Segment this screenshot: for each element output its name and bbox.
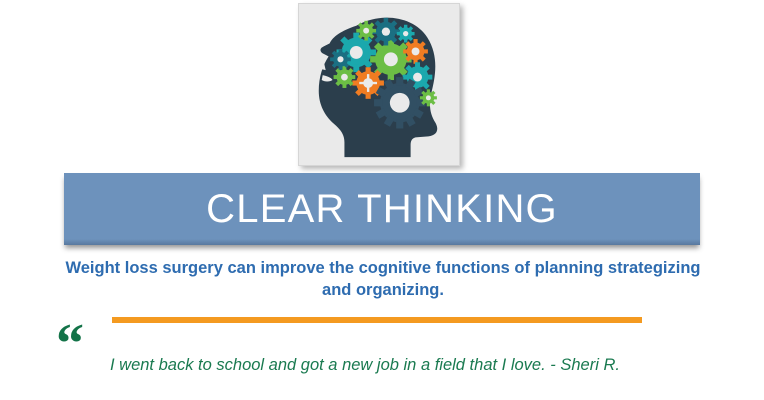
clear-thinking-banner: CLEAR THINKING <box>64 173 700 245</box>
page-title: CLEAR THINKING <box>206 189 558 229</box>
gear-darkteal-left <box>330 49 351 70</box>
gear-teal-tiny <box>397 25 415 43</box>
testimonial-quote: I went back to school and got a new job … <box>110 355 720 376</box>
illustration-panel <box>298 3 460 166</box>
gear-green-right <box>420 89 437 106</box>
gear-green-top <box>356 21 376 41</box>
statement-text: Weight loss surgery can improve the cogn… <box>62 258 704 302</box>
orange-divider <box>112 317 642 323</box>
head-silhouette-with-gears-icon <box>299 4 459 165</box>
gear-orange-small <box>403 39 428 64</box>
quote-mark-icon: “ <box>56 316 84 372</box>
gear-darkteal-top <box>372 18 400 46</box>
gear-green-left <box>334 66 356 88</box>
